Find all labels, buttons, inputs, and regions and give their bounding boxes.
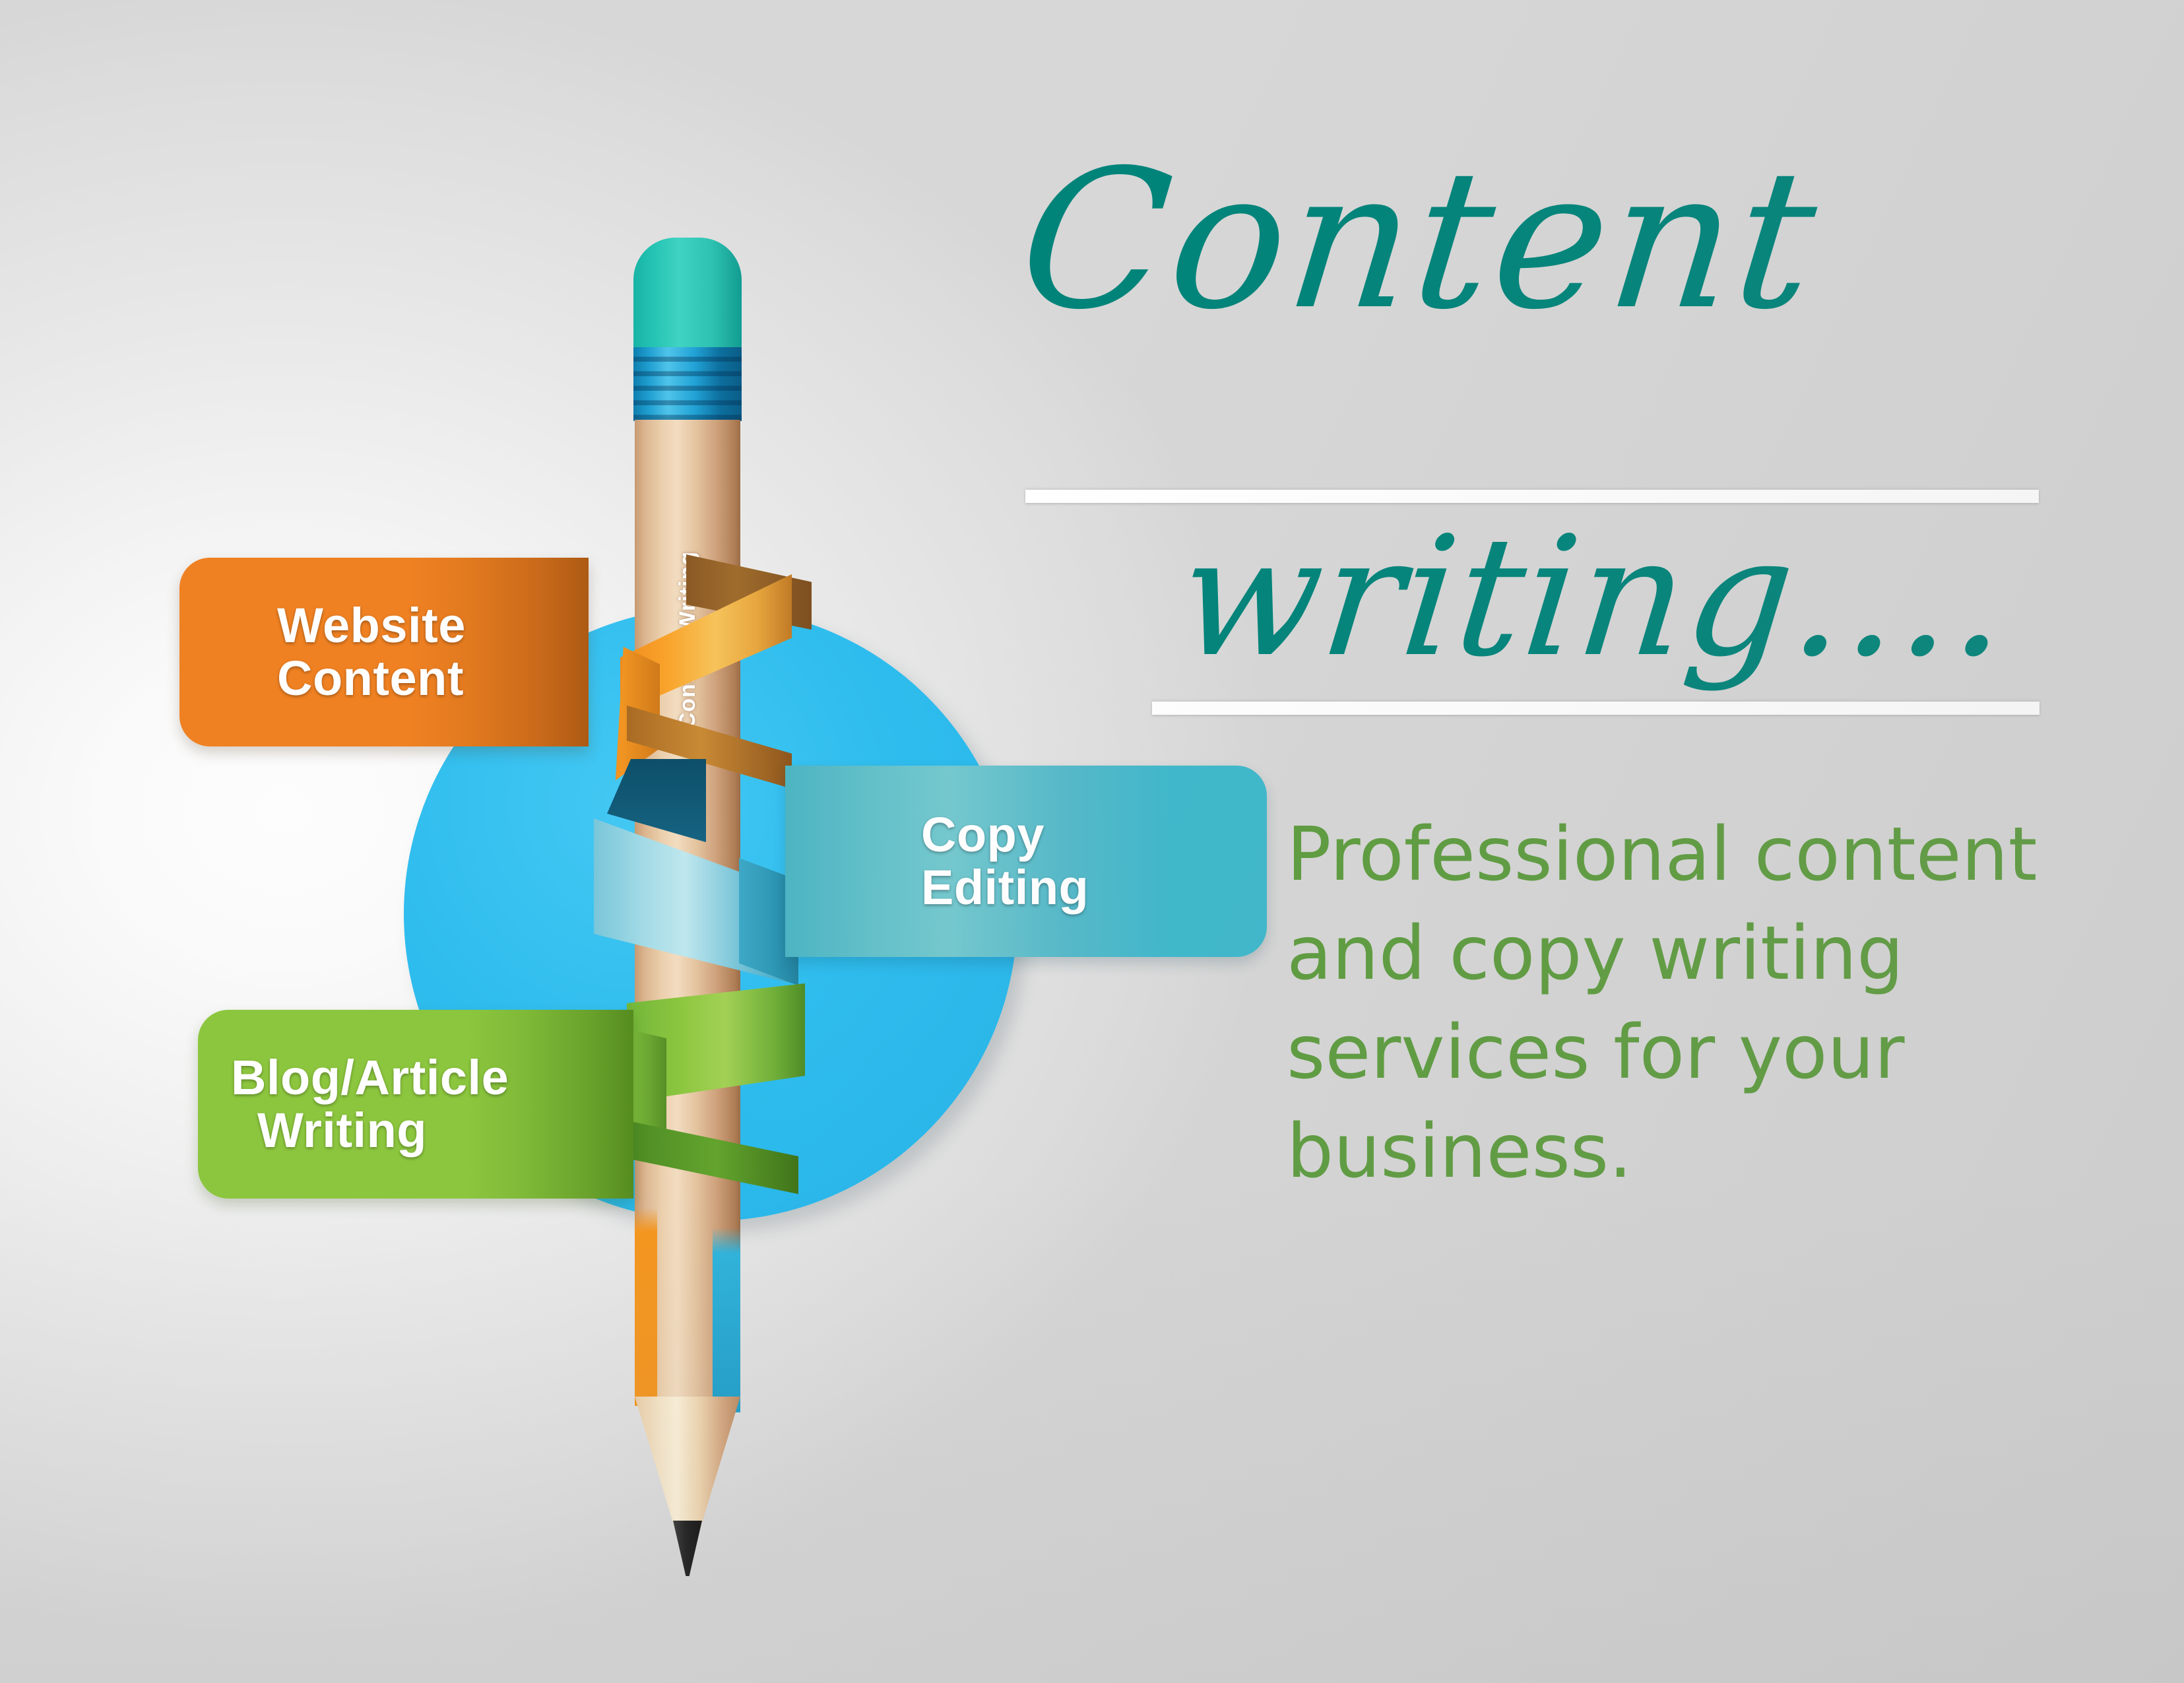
headline-column: Content writing.... Professional content… — [1016, 145, 2138, 1465]
banner-website-content[interactable]: Website Content — [179, 558, 589, 746]
tagline-text: Professional content and copy writing se… — [1287, 805, 2118, 1201]
banner-website-content-line2: Content — [277, 652, 464, 705]
banner-website-content-line1: Website — [277, 599, 466, 652]
pencil-ferrule — [633, 347, 742, 421]
pencil-eraser — [633, 238, 742, 350]
banner-blog-article-writing-line2: Writing — [231, 1104, 427, 1157]
poster-canvas: Content Writing Website Content Copy Edi… — [0, 0, 2184, 1683]
banner-blog-article-writing[interactable]: Blog/Article Writing — [198, 1010, 633, 1199]
headline-rule-bottom — [1152, 702, 2039, 715]
pencil-stripe-cyan — [713, 1228, 740, 1412]
headline-line-2: writing.... — [1172, 515, 2018, 680]
pencil-wood-cone — [635, 1397, 740, 1529]
banner-blog-article-writing-line1: Blog/Article — [231, 1051, 509, 1104]
pencil-stripe-orange — [635, 1208, 657, 1406]
pencil-graphite-tip — [673, 1521, 702, 1576]
headline-line-1: Content — [1013, 145, 1826, 337]
